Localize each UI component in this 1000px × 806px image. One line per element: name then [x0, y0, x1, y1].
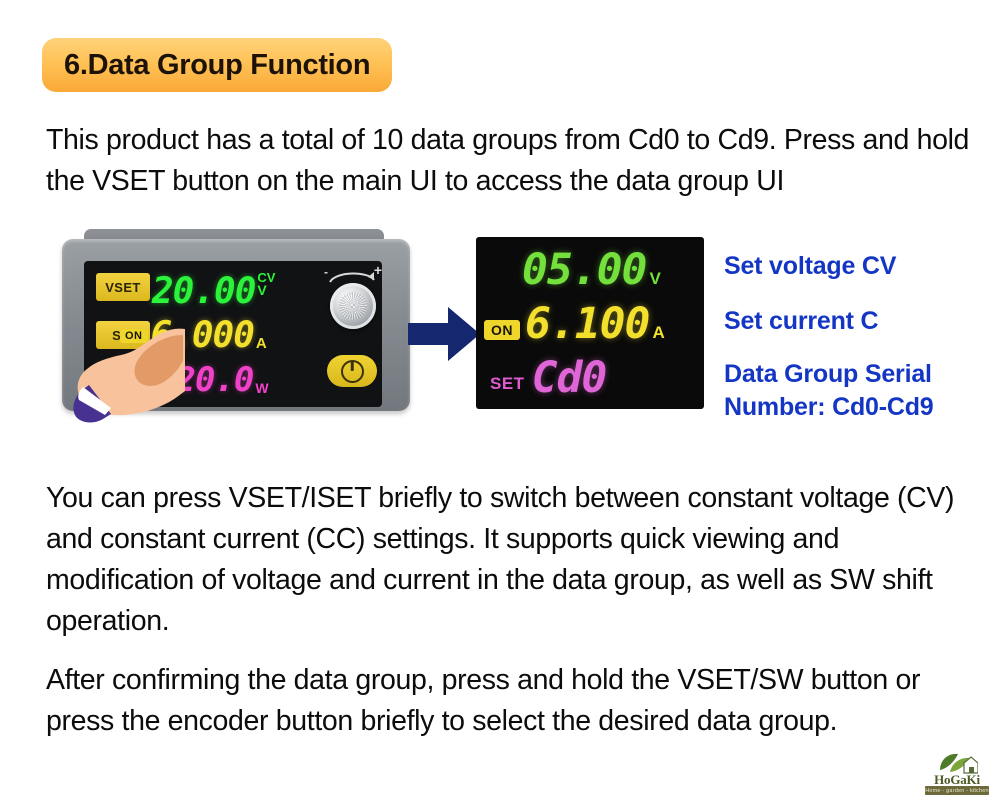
group-voltage-value: 05.00	[522, 245, 646, 295]
encoder-area: - +	[322, 265, 382, 401]
page-root: 6.Data Group Function This product has a…	[0, 0, 1000, 806]
pointing-hand-icon	[67, 315, 187, 427]
logo-tagline: Home - garden - kitchen	[925, 786, 989, 795]
main-voltage-unit: V	[257, 284, 266, 297]
middle-paragraph: You can press VSET/ISET briefly to switc…	[46, 478, 986, 642]
set-tag: SET	[490, 374, 525, 394]
power-supply-device: VSET SW I SET 20.00 CV V	[62, 229, 410, 417]
end-paragraph: After confirming the data group, press a…	[46, 660, 986, 742]
flow-arrow-icon	[406, 301, 482, 367]
data-group-display: 05.00 V ON 6.100 A SET Cd0	[476, 237, 704, 409]
group-current-unit: A	[652, 323, 664, 343]
main-current-unit: A	[256, 335, 267, 352]
vset-button[interactable]: VSET	[96, 273, 150, 301]
group-serial-value: Cd0	[532, 353, 607, 403]
intro-paragraph: This product has a total of 10 data grou…	[46, 120, 986, 202]
main-power-unit: W	[255, 380, 268, 396]
group-output-on-badge: ON	[484, 320, 520, 340]
group-current-row: ON 6.100 A	[484, 299, 665, 349]
section-title: 6.Data Group Function	[64, 49, 370, 82]
main-voltage-value: 20.00	[152, 271, 255, 312]
brand-logo: HoGaKi Home - garden - kitchen	[922, 752, 992, 798]
main-voltage-units: CV V	[257, 272, 275, 297]
encoder-knob[interactable]	[330, 283, 376, 329]
group-voltage-unit: V	[649, 269, 660, 289]
group-voltage-row: 05.00 V	[522, 245, 661, 295]
annotation-set-current: Set current C	[724, 305, 878, 338]
power-button[interactable]	[327, 355, 377, 387]
section-badge: 6.Data Group Function	[42, 38, 392, 92]
leaf-house-icon	[938, 752, 978, 774]
group-current-value: 6.100	[525, 299, 649, 349]
annotation-data-group-serial: Data Group Serial Number: Cd0-Cd9	[724, 358, 994, 424]
group-serial-row: SET Cd0	[490, 353, 606, 403]
power-icon	[341, 360, 364, 383]
main-voltage-row: 20.00 CV V	[152, 271, 275, 312]
annotation-set-voltage: Set voltage CV	[724, 250, 896, 283]
